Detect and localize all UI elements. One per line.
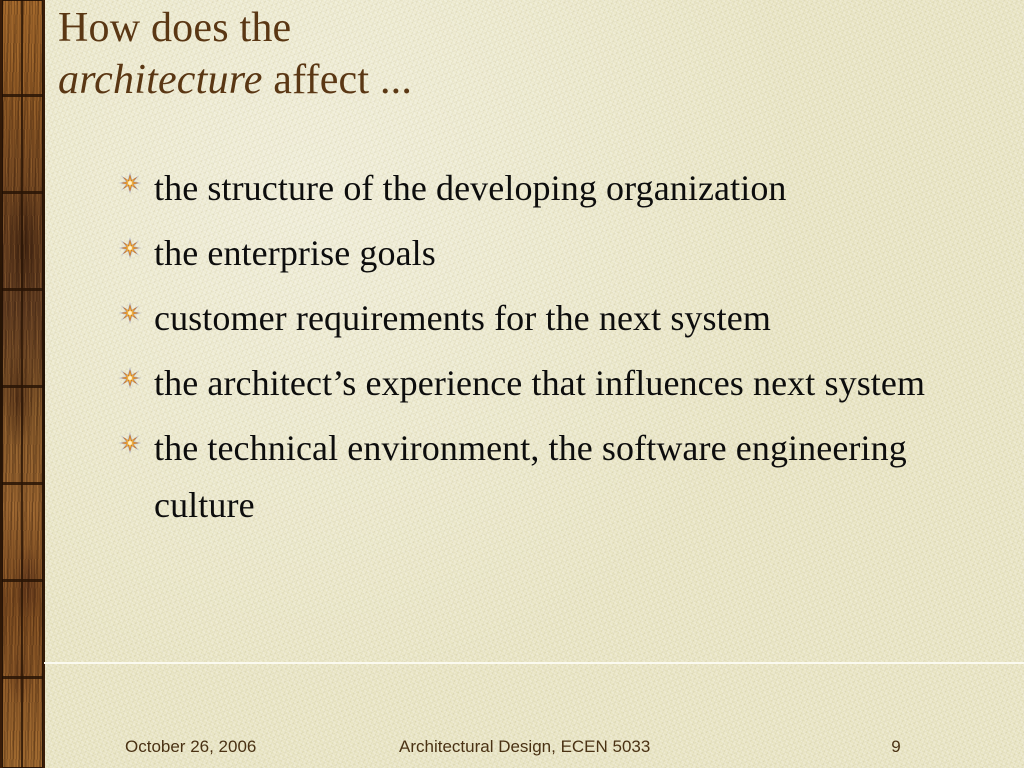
list-item-label: the structure of the developing organiza… (154, 160, 978, 217)
list-item: customer requirements for the next syste… (118, 290, 978, 347)
wood-texture-strip (2, 0, 43, 768)
starburst-bullet-icon (118, 236, 142, 260)
footer-divider (44, 662, 1024, 664)
list-item-label: the architect’s experience that influenc… (154, 355, 978, 412)
slide-title-line-2: architecture affect ... (58, 54, 738, 106)
list-item-label: the technical environment, the software … (154, 420, 978, 534)
slide-title-emphasis: architecture (58, 57, 263, 103)
starburst-bullet-icon (118, 171, 142, 195)
footer-page-number: 9 (884, 737, 908, 757)
list-item: the technical environment, the software … (118, 420, 978, 534)
list-item: the architect’s experience that influenc… (118, 355, 978, 412)
slide-footer: October 26, 2006 Architectural Design, E… (44, 737, 1024, 761)
list-item: the structure of the developing organiza… (118, 160, 978, 217)
starburst-bullet-icon (118, 431, 142, 455)
wood-border-right-edge (43, 0, 45, 768)
slide-title-line-2-rest: affect ... (263, 57, 413, 103)
bullet-list: the structure of the developing organiza… (118, 160, 978, 542)
list-item-label: customer requirements for the next syste… (154, 290, 978, 347)
starburst-bullet-icon (118, 366, 142, 390)
footer-course-name: Architectural Design, ECEN 5033 (399, 737, 650, 757)
starburst-bullet-icon (118, 301, 142, 325)
slide-canvas: How does the architecture affect ... the… (0, 0, 1024, 768)
footer-date: October 26, 2006 (125, 737, 256, 757)
list-item: the enterprise goals (118, 225, 978, 282)
slide-title: How does the architecture affect ... (58, 2, 738, 106)
slide-title-line-1: How does the (58, 2, 738, 54)
list-item-label: the enterprise goals (154, 225, 978, 282)
